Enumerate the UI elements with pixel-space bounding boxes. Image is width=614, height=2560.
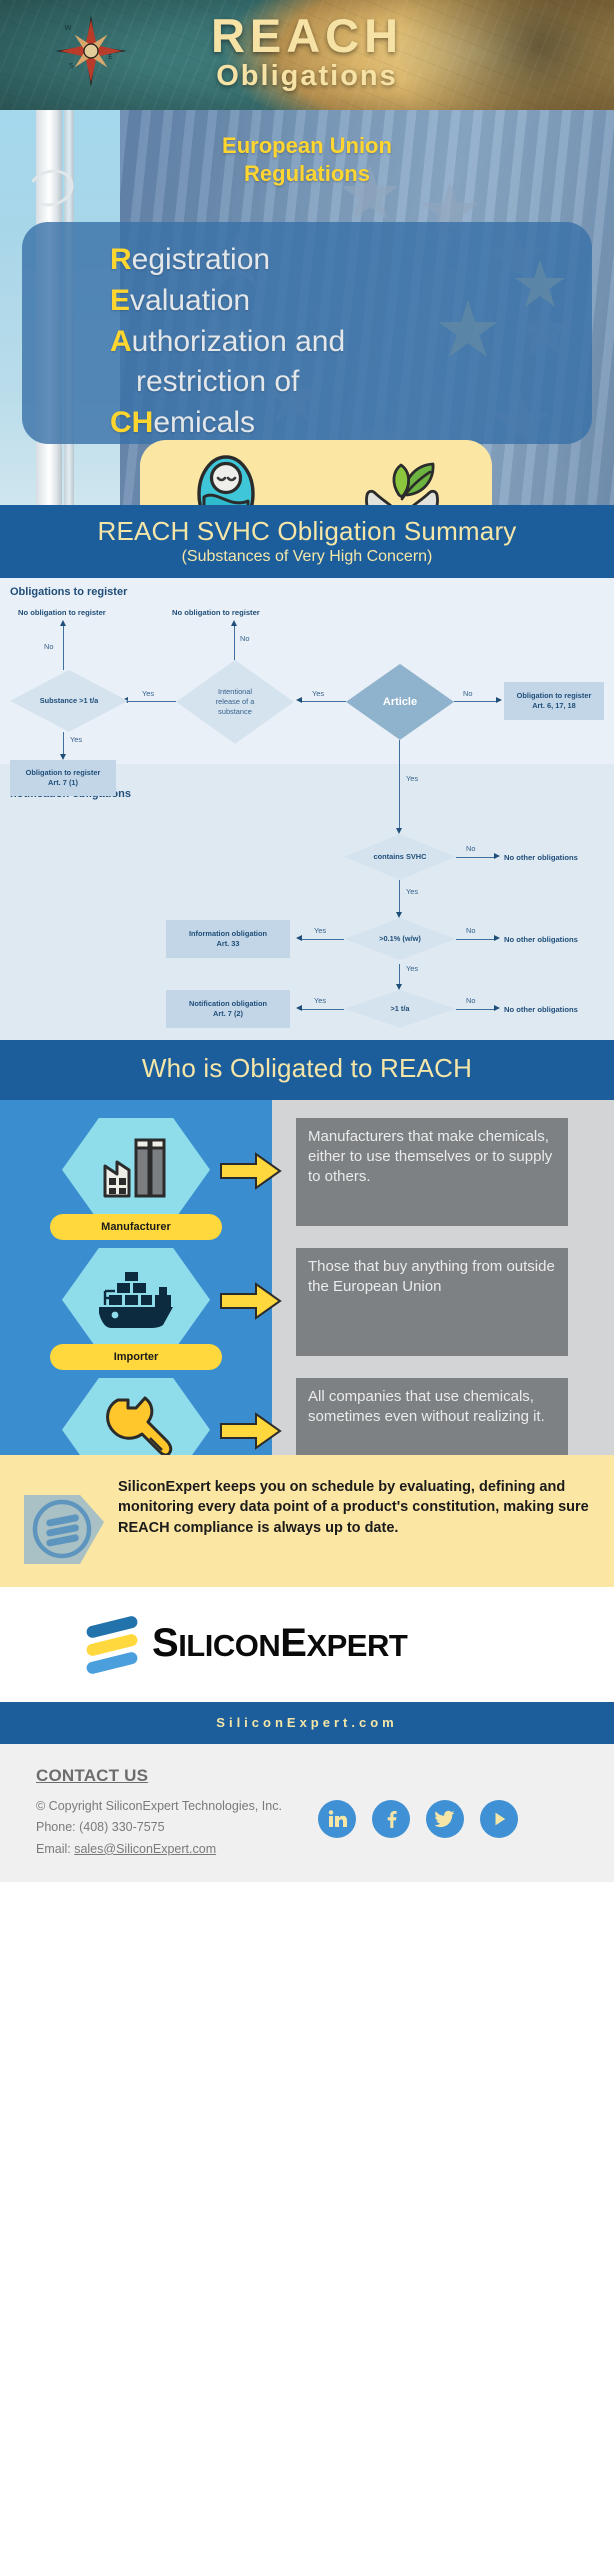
copyright-line: © Copyright SiliconExpert Technologies, … [36, 1796, 282, 1818]
page-title: REACH [0, 12, 614, 59]
description-importer: Those that buy anything from outside the… [296, 1248, 568, 1356]
siliconexpert-wordmark: SILICONEXPERT [152, 1621, 407, 1666]
contact-details: © Copyright SiliconExpert Technologies, … [36, 1796, 282, 1861]
email-line: Email: sales@SiliconExpert.com [36, 1839, 282, 1861]
flow-label-article-no: No [463, 689, 472, 698]
siliconexpert-bars-icon [82, 1613, 148, 1679]
flow-label-threshold-no: No [466, 926, 475, 935]
flow-line-intentional-no [234, 626, 235, 660]
flowchart-bottom-spacer [0, 1024, 614, 1040]
wordmark-e: E [280, 1621, 306, 1665]
infographic-page: W E S REACH Obligations [0, 0, 614, 2560]
flow-node-obligation-register-6-17-18: Obligation to register Art. 6, 17, 18 [504, 682, 604, 720]
flow-node-information-obligation: Information obligation Art. 33 [166, 920, 290, 958]
arrow-right-icon-downstream [220, 1412, 282, 1450]
acronym-rest-registration: egistration [132, 243, 270, 276]
acronym-letter-ch: CH [110, 406, 153, 439]
wordmark-xpert: XPERT [306, 1628, 407, 1663]
flow-line-article-no [454, 701, 498, 702]
flow-diamond-one-ta: >1 t/a [344, 990, 456, 1028]
flow-node-line1: Obligation to register [517, 691, 592, 701]
flow-text-no-other-obligations-2: No other obligations [504, 935, 578, 944]
flow-diamond-line1: Intentional [218, 687, 252, 696]
description-manufacturer: Manufacturers that make chemicals, eithe… [296, 1118, 568, 1226]
website-url[interactable]: SiliconExpert.com [216, 1715, 397, 1730]
flow-label-article-down-yes: Yes [406, 774, 418, 783]
who-section-title: Who is Obligated to REACH [10, 1054, 604, 1084]
flow-text-no-other-obligations-3: No other obligations [504, 1005, 578, 1014]
flow-label-threshold-yes: Yes [314, 926, 326, 935]
who-is-obligated-section: Manufacturer Manufacturers that make che… [0, 1100, 614, 1455]
flow-line-intentional-yes [128, 701, 176, 702]
flow-arrow-svhc-no [494, 853, 500, 859]
siliconexpert-value-banner: SiliconExpert keeps you on schedule by e… [0, 1455, 614, 1587]
acronym-rest-restriction: restriction of [136, 365, 299, 398]
flow-arrow-substance-no [60, 620, 66, 626]
hands-holding-leaves-icon [361, 455, 443, 506]
acronym-row-evaluation: Evaluation [110, 281, 580, 322]
flow-line-threshold-yes [302, 939, 344, 940]
flow-label-oneta-yes: Yes [314, 996, 326, 1005]
social-links [318, 1800, 518, 1838]
flow-line-threshold-yes-down [399, 964, 400, 986]
page-subtitle: Obligations [0, 61, 614, 93]
arrow-right-icon-manufacturer [220, 1152, 282, 1190]
flow-line-substance-yes [63, 732, 64, 756]
flow-arrow-intentional-no [231, 620, 237, 626]
flow-node-line1: Information obligation [189, 929, 267, 939]
flowchart-tail: Yes >1 t/a No No other obligations Yes N… [0, 978, 614, 1024]
acronym-letter-a: A [110, 325, 132, 358]
flow-diamond-line3: substance [218, 707, 252, 716]
flow-line-substance-no [63, 626, 64, 670]
acronym-rest-chemicals: emicals [153, 406, 255, 439]
acronym-rest-authorization: uthorization and [132, 325, 346, 358]
flow-diamond-contains-svhc: contains SVHC [344, 834, 456, 880]
acronym-letter-r: R [110, 243, 132, 276]
flow-node-line2: Art. 6, 17, 18 [532, 701, 576, 711]
flow-node-obligation-register-7-1: Obligation to register Art. 7 (1) [10, 760, 116, 796]
flow-diamond-article: Article [346, 664, 454, 740]
flow-node-notification-obligation: Notification obligation Art. 7 (2) [166, 990, 290, 1028]
flow-text-no-obligation-register-b: No obligation to register [172, 608, 260, 617]
pill-label-manufacturer: Manufacturer [50, 1214, 222, 1240]
wordmark-ilicon: ILICON [178, 1628, 280, 1663]
website-url-bar[interactable]: SiliconExpert.com [0, 1702, 614, 1744]
eu-regulations-section: European Union Regulations Registration … [0, 110, 614, 505]
cargo-ship-icon [93, 1269, 179, 1331]
flow-label-substance-yes: Yes [70, 735, 82, 744]
hero-header: W E S REACH Obligations [0, 0, 614, 110]
reach-acronym-card: Registration Evaluation Authorization an… [22, 222, 592, 444]
flow-section-header: REACH SVHC Obligation Summary (Substance… [0, 505, 614, 578]
email-link[interactable]: sales@SiliconExpert.com [74, 1842, 216, 1856]
flow-line-svhc-yes [399, 880, 400, 914]
page-footer: CONTACT US © Copyright SiliconExpert Tec… [0, 1744, 614, 1882]
acronym-row-chemicals: CHemicals [110, 403, 580, 444]
flow-text-no-other-obligations-1: No other obligations [504, 853, 578, 862]
reach-svhc-flowchart: Obligations to register Information/ not… [0, 578, 614, 978]
flow-section-subtitle: (Substances of Very High Concern) [10, 548, 604, 566]
flow-label-intentional-no: No [240, 634, 249, 643]
flow-line-article-yes [302, 701, 346, 702]
who-row-manufacturer: Manufacturer Manufacturers that make che… [0, 1116, 614, 1228]
flow-arrow-oneta-yes [296, 1005, 302, 1011]
flow-line-threshold-no [456, 939, 496, 940]
flow-label-svhc-no: No [466, 844, 475, 853]
contact-us-heading: CONTACT US [36, 1766, 148, 1786]
phone-line: Phone: (408) 330-7575 [36, 1817, 282, 1839]
flow-label-threshold-yes-down: Yes [406, 964, 418, 973]
eu-heading-line1: European Union [222, 133, 392, 158]
acronym-rest-evaluation: valuation [130, 284, 250, 317]
flow-node-line2: Art. 33 [216, 939, 239, 949]
flow-node-line2: Art. 7 (1) [48, 778, 78, 788]
wordmark-s: S [152, 1621, 178, 1665]
flow-label-substance-no: No [44, 642, 53, 651]
flow-line-svhc-no [456, 857, 496, 858]
siliconexpert-hex-mark-icon [22, 1477, 106, 1567]
flow-node-line2: Art. 7 (2) [213, 1009, 243, 1019]
flow-arrow-article-down-yes [396, 828, 402, 834]
pill-label-importer: Importer [50, 1344, 222, 1370]
eu-heading: European Union Regulations [0, 132, 614, 188]
flow-label-intentional-yes: Yes [142, 689, 154, 698]
flow-arrow-svhc-yes [396, 912, 402, 918]
hexagon-importer [62, 1248, 210, 1352]
who-section-header: Who is Obligated to REACH [0, 1040, 614, 1100]
flow-label-article-yes: Yes [312, 689, 324, 698]
flow-diamond-line2: release of a [216, 697, 255, 706]
flow-label-oneta-no: No [466, 996, 475, 1005]
flow-diamond-intentional-release: Intentional release of a substance [176, 660, 294, 744]
factory-icon [95, 1134, 177, 1206]
flow-label-svhc-yes: Yes [406, 887, 418, 896]
flow-group-label-register: Obligations to register [10, 586, 127, 600]
swaddled-baby-icon [190, 453, 262, 506]
flow-arrow-article-no [496, 697, 502, 703]
flow-node-line1: Obligation to register [26, 768, 101, 778]
flow-diamond-substance-1ta: Substance >1 t/a [10, 670, 128, 732]
acronym-row-authorization: Authorization and [110, 322, 580, 363]
who-row-importer: Importer Those that buy anything from ou… [0, 1246, 614, 1358]
twitter-icon[interactable] [426, 1800, 464, 1838]
flow-arrow-threshold-yes [296, 935, 302, 941]
flow-arrow-article-yes [296, 697, 302, 703]
flow-section-title: REACH SVHC Obligation Summary [10, 517, 604, 547]
flow-line-oneta-yes [302, 1009, 344, 1010]
facebook-icon[interactable] [372, 1800, 410, 1838]
acronym-letter-e: E [110, 284, 130, 317]
acronym-row-registration: Registration [110, 240, 580, 281]
flow-diamond-threshold-01: >0.1% (w/w) [344, 918, 456, 960]
acronym-row-restriction: restriction of [110, 362, 580, 403]
siliconexpert-value-text: SiliconExpert keeps you on schedule by e… [118, 1477, 590, 1539]
flow-text-no-obligation-register-a: No obligation to register [18, 608, 106, 617]
arrow-right-icon-importer [220, 1282, 282, 1320]
flow-arrow-oneta-no [494, 1005, 500, 1011]
flow-arrow-threshold-no [494, 935, 500, 941]
reach-acronym-list: Registration Evaluation Authorization an… [110, 240, 580, 444]
flow-arrow-threshold-yes-down [396, 984, 402, 990]
linkedin-icon[interactable] [318, 1800, 356, 1838]
hexagon-manufacturer [62, 1118, 210, 1222]
flow-line-article-down-yes [399, 740, 400, 830]
email-label: Email: [36, 1842, 74, 1856]
flow-line-oneta-no [456, 1009, 496, 1010]
eu-heading-line2: Regulations [244, 161, 370, 186]
flow-node-line1: Notification obligation [189, 999, 267, 1009]
siliconexpert-logo-row: SILICONEXPERT [0, 1587, 614, 1702]
health-environment-icon-pill [140, 440, 492, 505]
youtube-icon[interactable] [480, 1800, 518, 1838]
